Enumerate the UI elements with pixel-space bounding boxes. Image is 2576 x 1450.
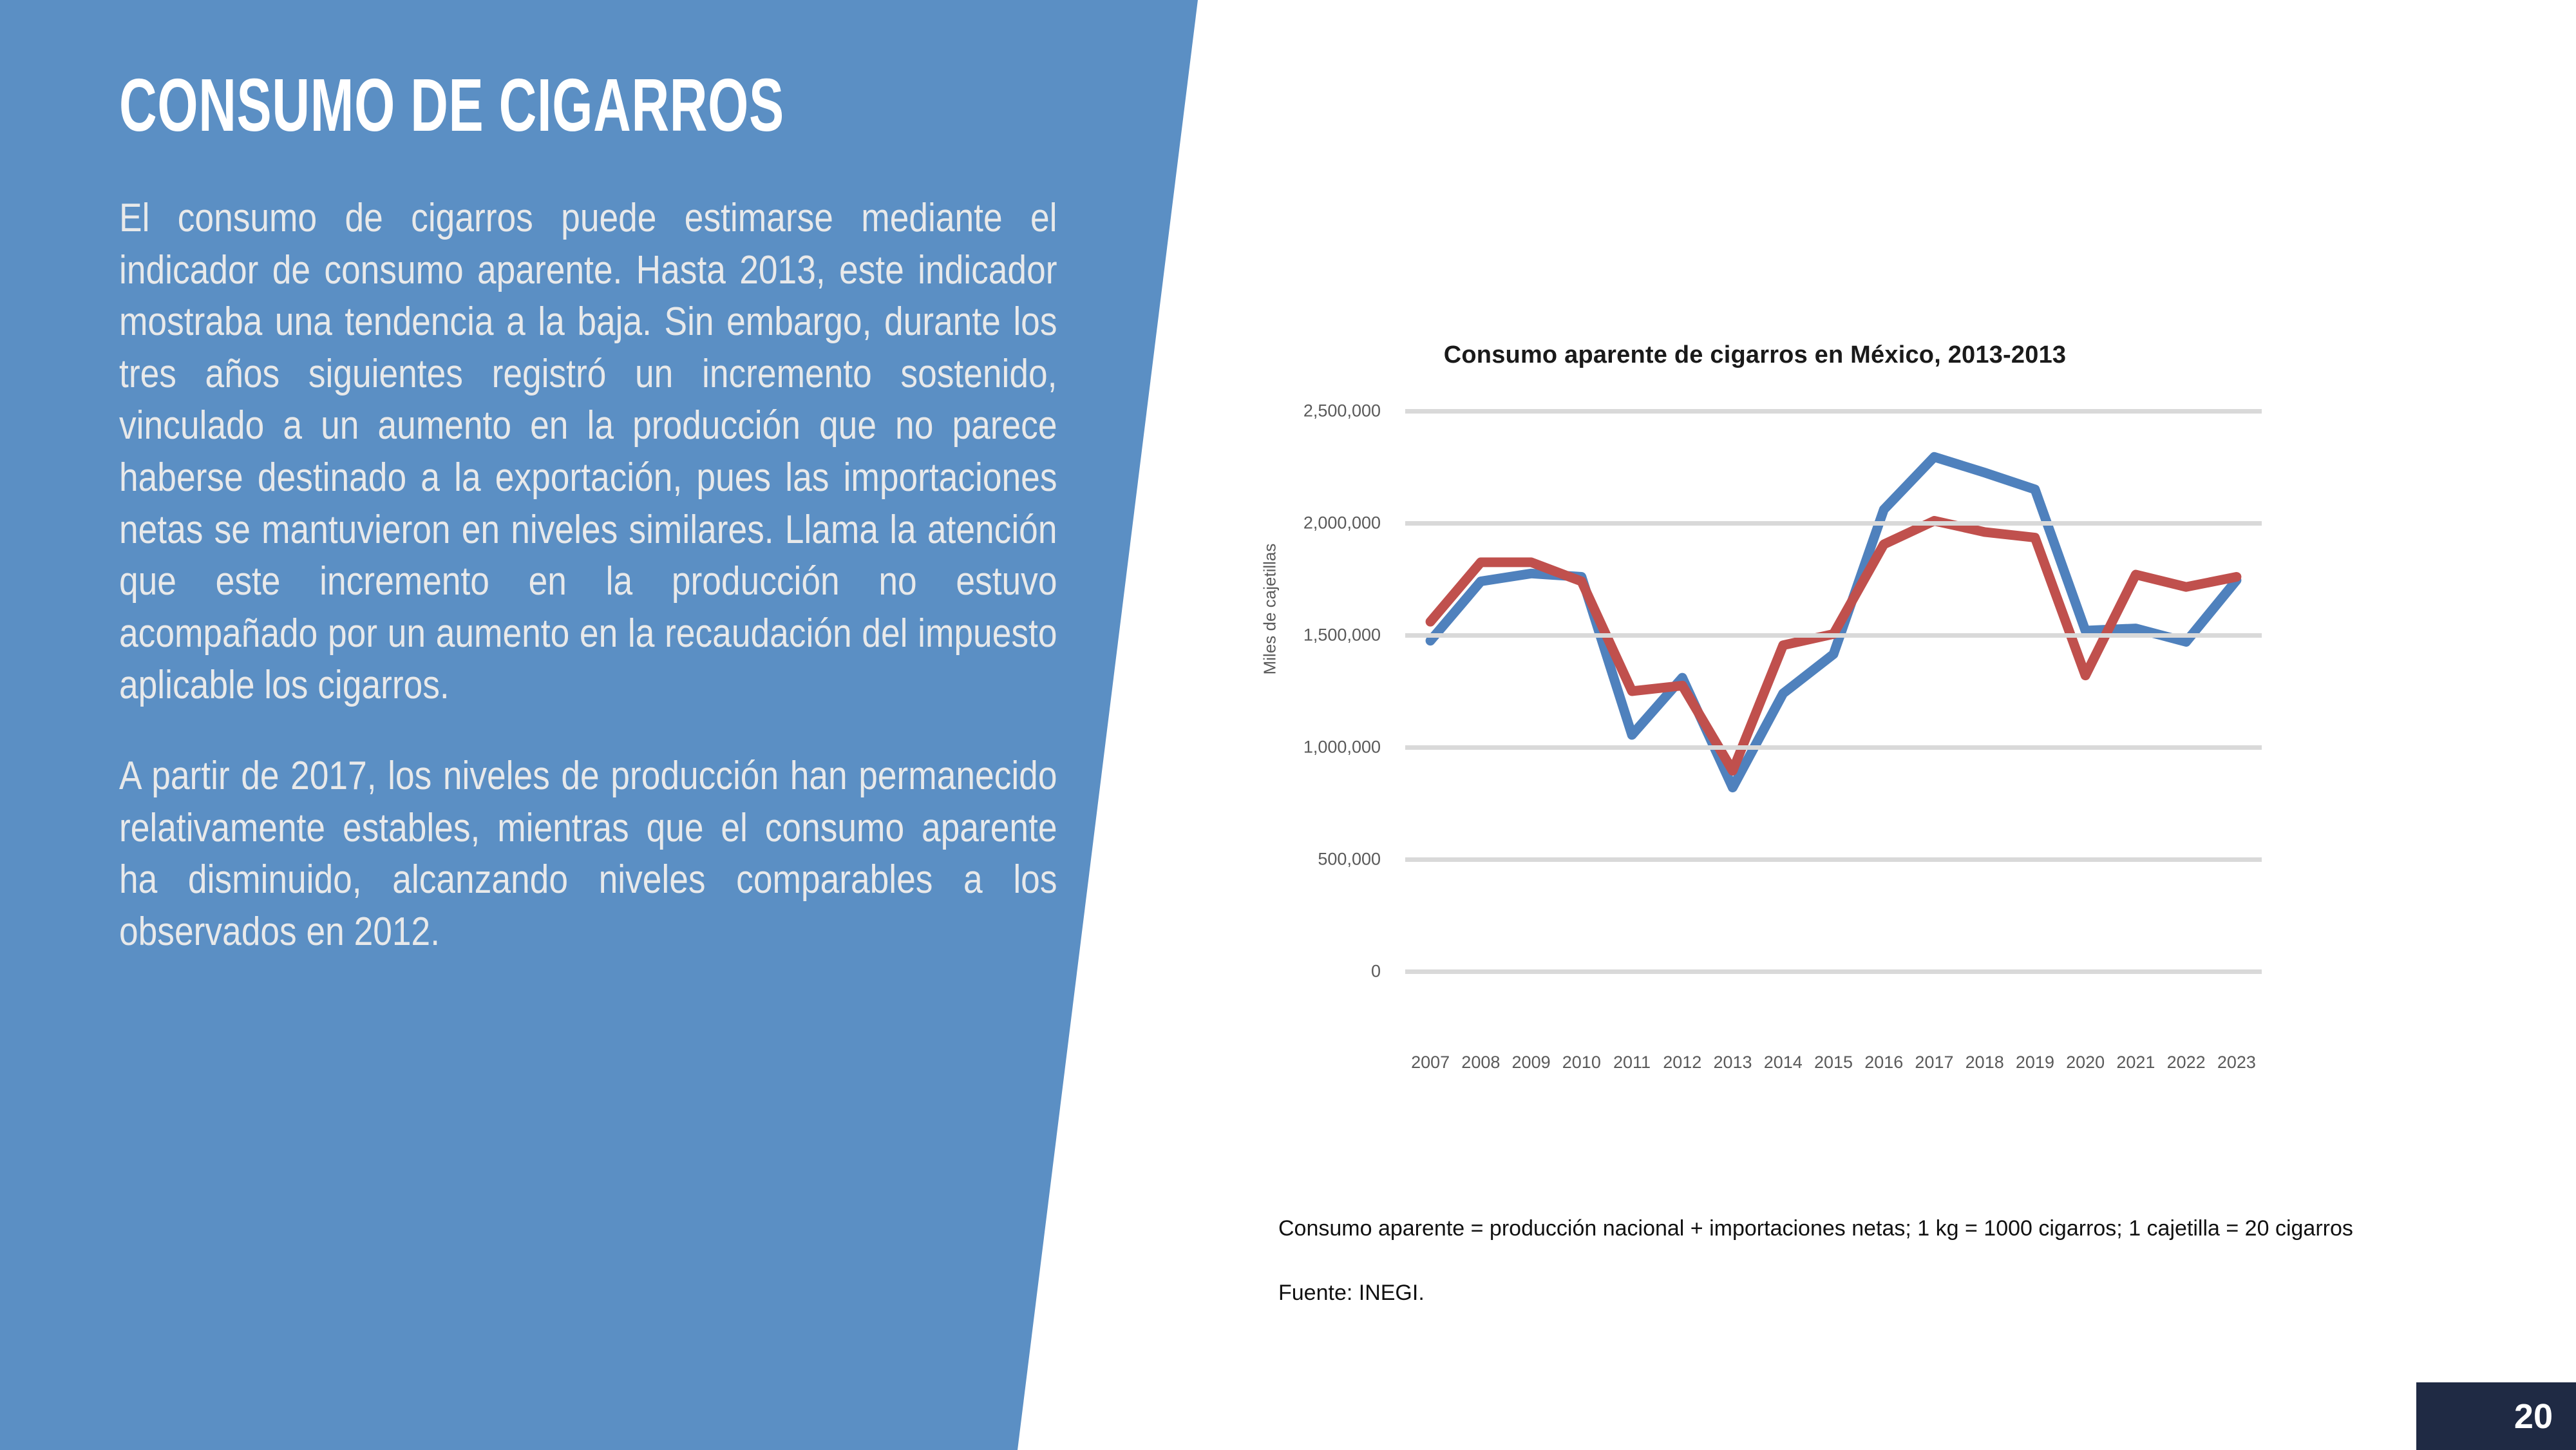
x-axis-tick-label: 2020 bbox=[2066, 1053, 2105, 1073]
slide-canvas: CONSUMO DE CIGARROS El consumo de cigarr… bbox=[0, 0, 2576, 1450]
x-axis-tick-label: 2010 bbox=[1562, 1053, 1601, 1073]
body-paragraph-2: A partir de 2017, los niveles de producc… bbox=[119, 750, 1057, 958]
chart-panel: Consumo aparente de cigarros en México, … bbox=[1224, 0, 2576, 1450]
gridline bbox=[1405, 521, 2262, 526]
x-axis-tick-label: 2019 bbox=[2016, 1053, 2054, 1073]
x-axis-tick-label: 2013 bbox=[1713, 1053, 1752, 1073]
y-axis-tick-label: 0 bbox=[1371, 962, 1381, 982]
gridline bbox=[1405, 409, 2262, 414]
chart-title: Consumo aparente de cigarros en México, … bbox=[1230, 341, 2280, 369]
x-axis-tick-label: 2015 bbox=[1814, 1053, 1853, 1073]
y-axis-title: Miles de cajetillas bbox=[1260, 474, 1280, 745]
line-chart: Consumo aparente de cigarros en México, … bbox=[1230, 341, 2280, 1050]
gridline bbox=[1405, 745, 2262, 750]
x-axis-tick-label: 2017 bbox=[1915, 1053, 1953, 1073]
x-axis-tick-label: 2007 bbox=[1411, 1053, 1450, 1073]
x-axis-tick-label: 2016 bbox=[1864, 1053, 1903, 1073]
x-axis-tick-label: 2018 bbox=[1965, 1053, 2004, 1073]
x-axis-tick-label: 2008 bbox=[1461, 1053, 1500, 1073]
x-axis-tick-label: 2021 bbox=[2116, 1053, 2155, 1073]
x-axis-tick-label: 2012 bbox=[1663, 1053, 1701, 1073]
x-axis-tick-label: 2023 bbox=[2217, 1053, 2256, 1073]
page-number-badge: 20 bbox=[2416, 1382, 2576, 1450]
chart-series-svg bbox=[1405, 411, 2262, 971]
gridline bbox=[1405, 969, 2262, 974]
x-axis-tick-label: 2011 bbox=[1613, 1053, 1651, 1073]
page-title: CONSUMO DE CIGARROS bbox=[119, 68, 777, 142]
gridline bbox=[1405, 857, 2262, 862]
y-axis-tick-label: 2,000,000 bbox=[1303, 513, 1381, 533]
x-axis-tick-label: 2009 bbox=[1512, 1053, 1551, 1073]
chart-footnote: Consumo aparente = producción nacional +… bbox=[1278, 1214, 2483, 1243]
left-text-column: CONSUMO DE CIGARROS El consumo de cigarr… bbox=[119, 68, 1059, 958]
chart-source: Fuente: INEGI. bbox=[1278, 1279, 1922, 1308]
y-axis-tick-label: 2,500,000 bbox=[1303, 401, 1381, 421]
x-axis-tick-label: 2022 bbox=[2167, 1053, 2206, 1073]
page-number-label: 20 bbox=[2514, 1397, 2553, 1436]
body-paragraph-1: El consumo de cigarros puede estimarse m… bbox=[119, 193, 1057, 712]
y-axis-tick-label: 1,000,000 bbox=[1303, 738, 1381, 758]
y-axis-tick-label: 500,000 bbox=[1318, 850, 1381, 870]
chart-plot-area: 2,500,0002,000,0001,500,0001,000,000500,… bbox=[1405, 411, 2262, 971]
gridline bbox=[1405, 633, 2262, 638]
x-axis-tick-label: 2014 bbox=[1764, 1053, 1803, 1073]
y-axis-tick-label: 1,500,000 bbox=[1303, 625, 1381, 645]
